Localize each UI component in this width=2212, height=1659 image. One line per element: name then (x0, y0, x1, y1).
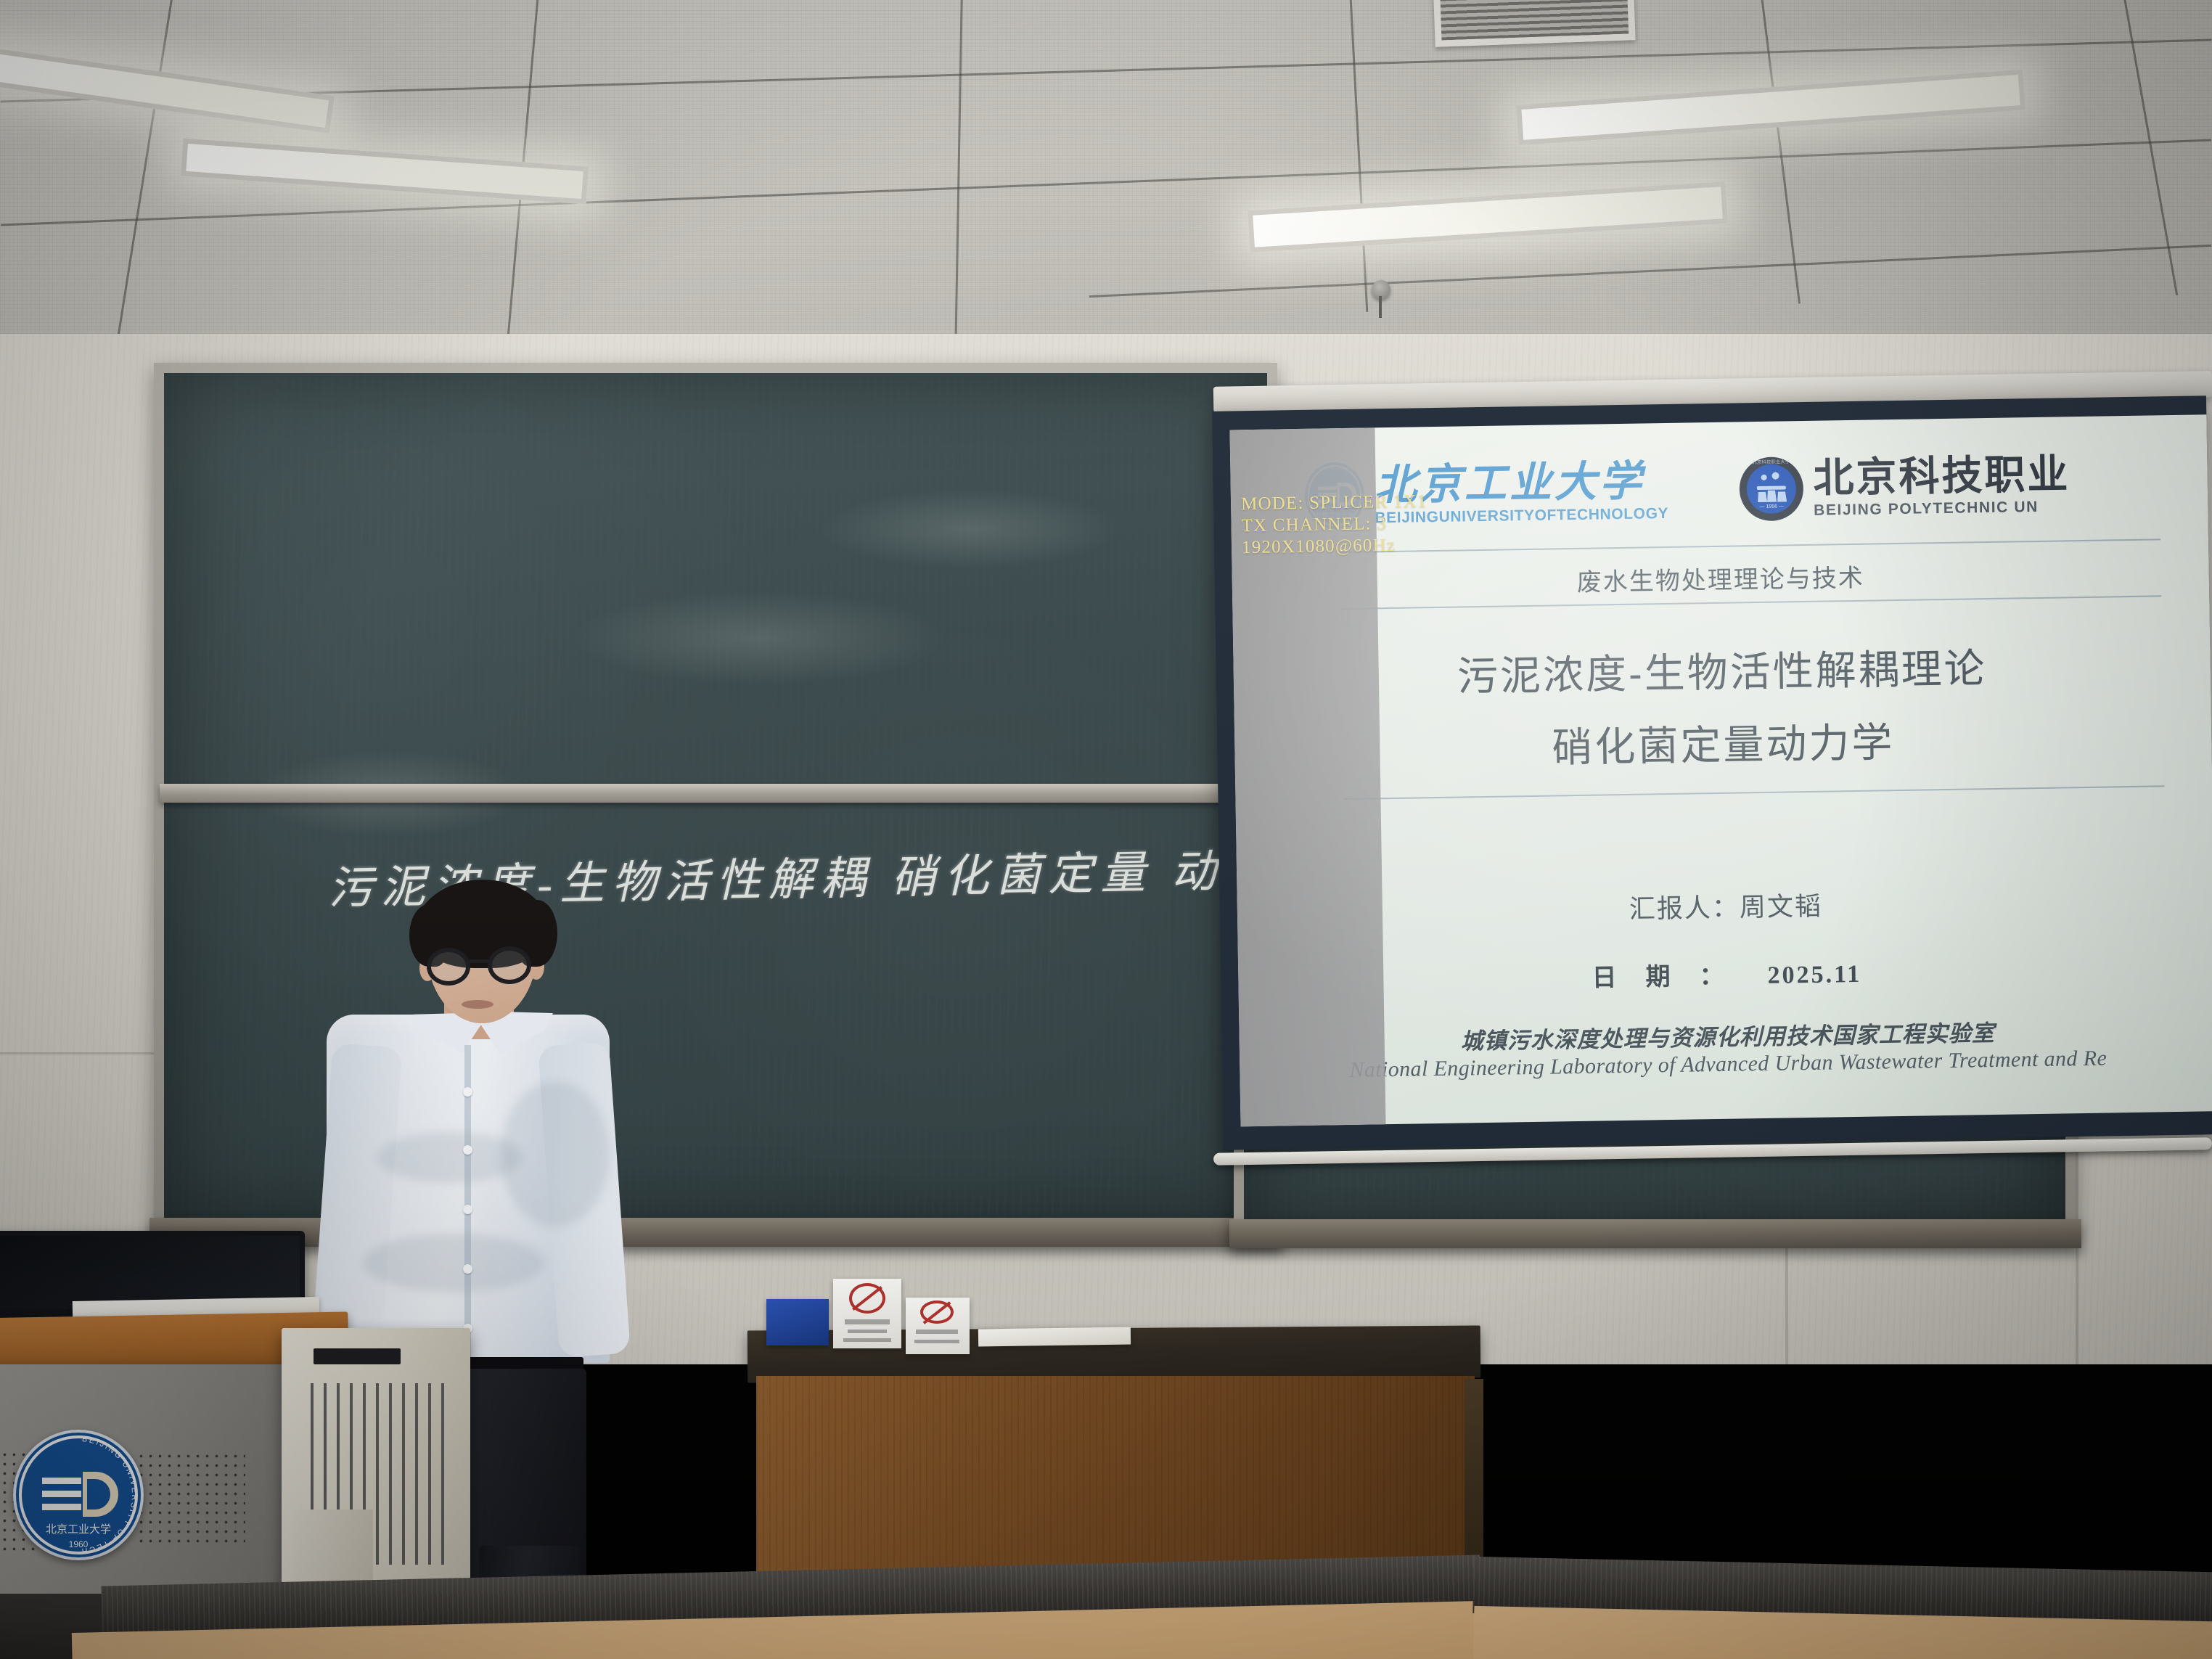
presenter-glasses (427, 948, 470, 986)
projected-slide: 北京工业大学 1960 UNIVERSITY OF TECHNOLOGY 北京工… (1229, 414, 2212, 1126)
presenter-shirt-button (463, 1145, 472, 1155)
slide-divider (1340, 538, 2160, 553)
slide-title-line-2: 硝化菌定量动力学 (1234, 705, 2212, 779)
smoke-detector (1372, 280, 1390, 299)
no-smoking-icon (849, 1283, 885, 1314)
lectern-bjut-crest-icon: 北京工业大学 1960 BEIJING UNIVERSITY OF TECHNO… (13, 1430, 144, 1560)
no-smoking-icon (920, 1300, 954, 1324)
paper-stack (978, 1327, 1131, 1347)
svg-text:— 1956 —: — 1956 — (1759, 504, 1784, 509)
equipment-label (314, 1348, 401, 1364)
projector-osd-mode: MODE: SPLICER 1X1 (1241, 491, 1427, 515)
svg-text:北京工业大学: 北京工业大学 (46, 1523, 111, 1536)
slide-title-line-1: 污泥浓度-生物活性解耦理论 (1233, 632, 2211, 706)
logo-name-en: BEIJING POLYTECHNIC UN (1814, 498, 2070, 520)
svg-text:北京科技职业大学: 北京科技职业大学 (1752, 458, 1790, 465)
no-smoking-table-sign (906, 1298, 970, 1354)
projection-screen: 北京工业大学 1960 UNIVERSITY OF TECHNOLOGY 北京工… (1212, 396, 2212, 1150)
no-smoking-table-sign (833, 1279, 901, 1348)
acoustic-tile-ceiling (0, 0, 2212, 363)
student-desk-row (0, 1550, 1480, 1659)
logo-beijing-polytechnic: — 1956 — 北京科技职业大学 北京科技职业 BEIJING POLYTEC… (1737, 451, 2070, 523)
slide-divider (1344, 785, 2164, 800)
slide-date: 日 期 ： 2025.11 (1238, 948, 2212, 999)
lectern-speaker-grille (136, 1451, 245, 1546)
greenboard-mid-rail (160, 784, 1271, 803)
logo-name-cn: 北京科技职业 (1813, 454, 2070, 500)
presenter-glasses (488, 946, 531, 984)
slide-presenter: 汇报人：周文韬 (1237, 879, 2212, 932)
lecture-hall-photo: 污泥浓度-生物活性解耦 硝化菌定量 动力学 (0, 0, 2212, 1659)
presenter-glasses-bridge (469, 959, 489, 963)
projector-osd-channel: TX CHANNEL: 3 (1241, 513, 1387, 537)
slide-logo-row: 北京工业大学 1960 UNIVERSITY OF TECHNOLOGY 北京工… (1303, 441, 2212, 536)
presenter-shirt-button (463, 1087, 472, 1097)
presenter-shirt-button (463, 1264, 472, 1274)
slide-course-name: 废水生物处理理论与技术 (1232, 552, 2209, 603)
student-desk-row (1473, 1547, 2212, 1659)
blue-packet (766, 1299, 829, 1345)
greenboard (154, 363, 1277, 1232)
beijing-polytechnic-crest-icon: — 1956 — 北京科技职业大学 (1737, 455, 1805, 523)
chalk-tray (1229, 1219, 2081, 1248)
presenter-mouth (462, 1000, 493, 1009)
hvac-air-vent (1433, 0, 1635, 47)
presenter-shirt-button (463, 1205, 472, 1214)
projector-osd-resolution: 1920X1080@60Hz (1242, 535, 1396, 559)
